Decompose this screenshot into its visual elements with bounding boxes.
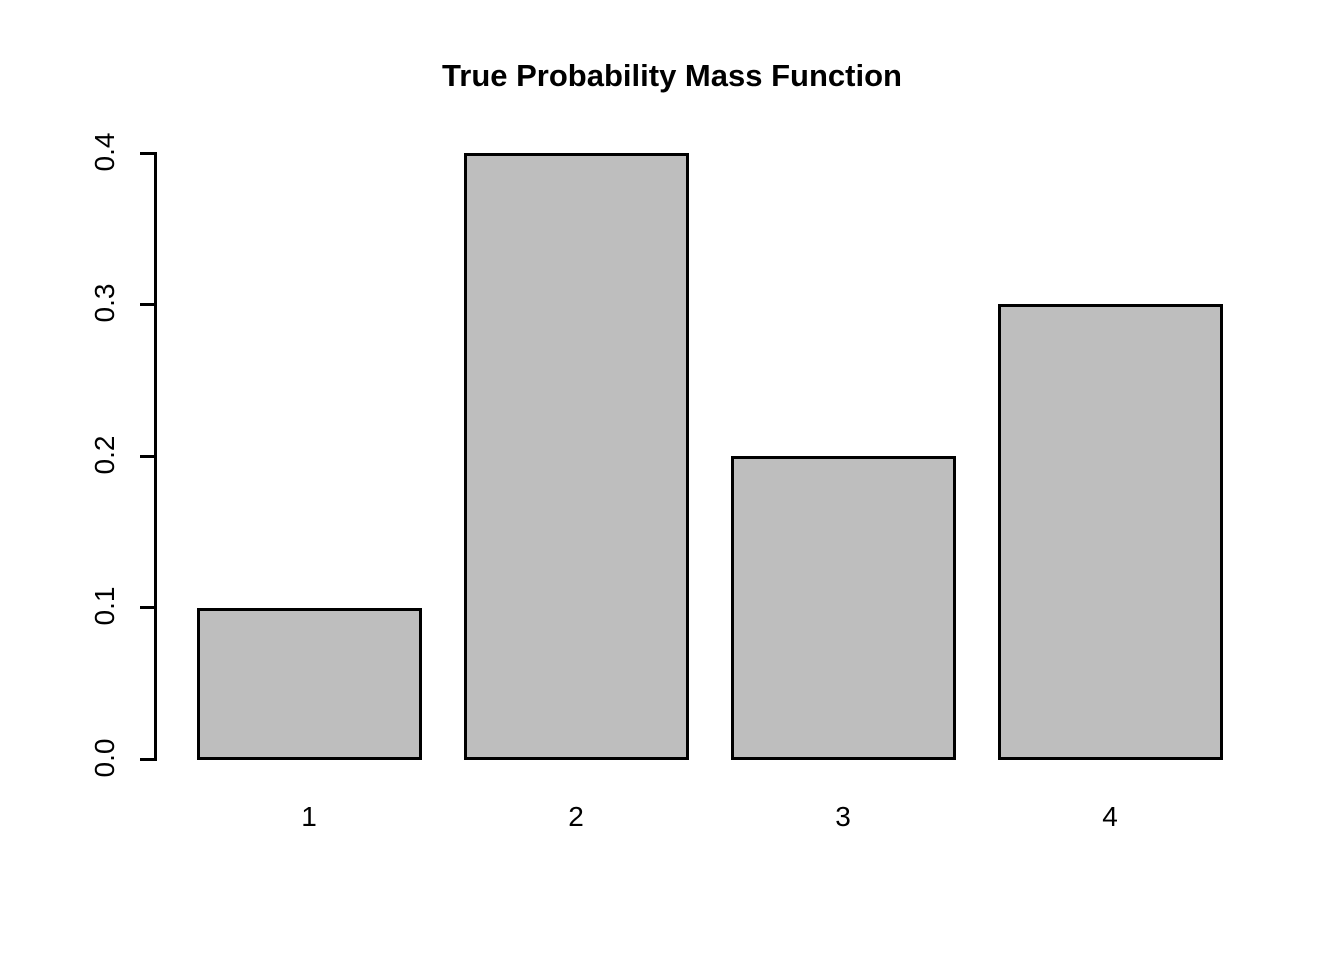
x-tick-label-3: 4	[1050, 801, 1170, 833]
x-tick-label-1: 2	[516, 801, 636, 833]
y-tick-mark	[140, 758, 155, 761]
y-tick-label-1: 0.1	[89, 561, 121, 651]
bar-category-4	[998, 304, 1223, 759]
bar-category-2	[464, 153, 689, 760]
y-tick-label-0: 0.0	[89, 713, 121, 803]
x-tick-label-0: 1	[249, 801, 369, 833]
y-tick-label-3: 0.3	[89, 258, 121, 348]
y-tick-mark	[140, 152, 155, 155]
chart-canvas: True Probability Mass Function 0.0 0.1 0…	[0, 0, 1344, 960]
y-tick-mark	[140, 303, 155, 306]
bar-category-3	[731, 456, 956, 760]
y-tick-mark	[140, 606, 155, 609]
y-tick-label-4: 0.4	[89, 107, 121, 197]
y-tick-label-2: 0.2	[89, 410, 121, 500]
y-tick-mark	[140, 455, 155, 458]
plot-area: 0.0 0.1 0.2 0.3 0.4 1 2 3 4	[0, 0, 1344, 960]
bar-category-1	[197, 608, 422, 760]
x-tick-label-2: 3	[783, 801, 903, 833]
